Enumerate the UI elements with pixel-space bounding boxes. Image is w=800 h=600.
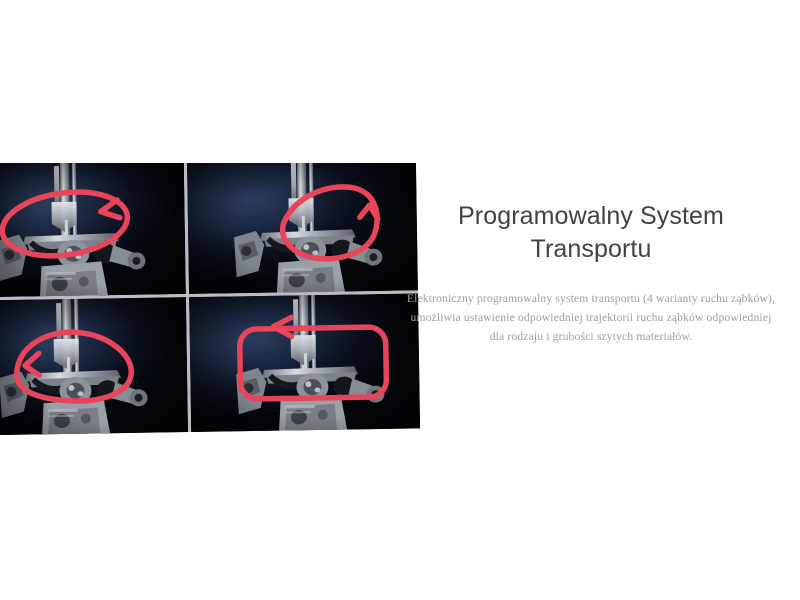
feature-description: Elektroniczny programowalny system trans…: [404, 290, 778, 346]
motion-panel-rounded-triangle[interactable]: [0, 297, 188, 435]
feature-section: Programowalny System Transportu Elektron…: [0, 0, 800, 600]
transport-motion-mosaic: [0, 163, 420, 438]
panel-vignette: [189, 293, 420, 432]
panel-vignette: [0, 297, 188, 435]
motion-panel-elliptical[interactable]: [0, 163, 186, 297]
feature-text-column: Programowalny System Transportu Elektron…: [404, 200, 778, 346]
mosaic-grid: [0, 163, 420, 435]
panel-vignette: [0, 163, 186, 297]
motion-panel-rectangular[interactable]: [189, 293, 420, 432]
motion-panel-tilted-triangle[interactable]: [187, 163, 418, 294]
panel-vignette: [187, 163, 418, 294]
page-title: Programowalny System Transportu: [404, 200, 778, 266]
